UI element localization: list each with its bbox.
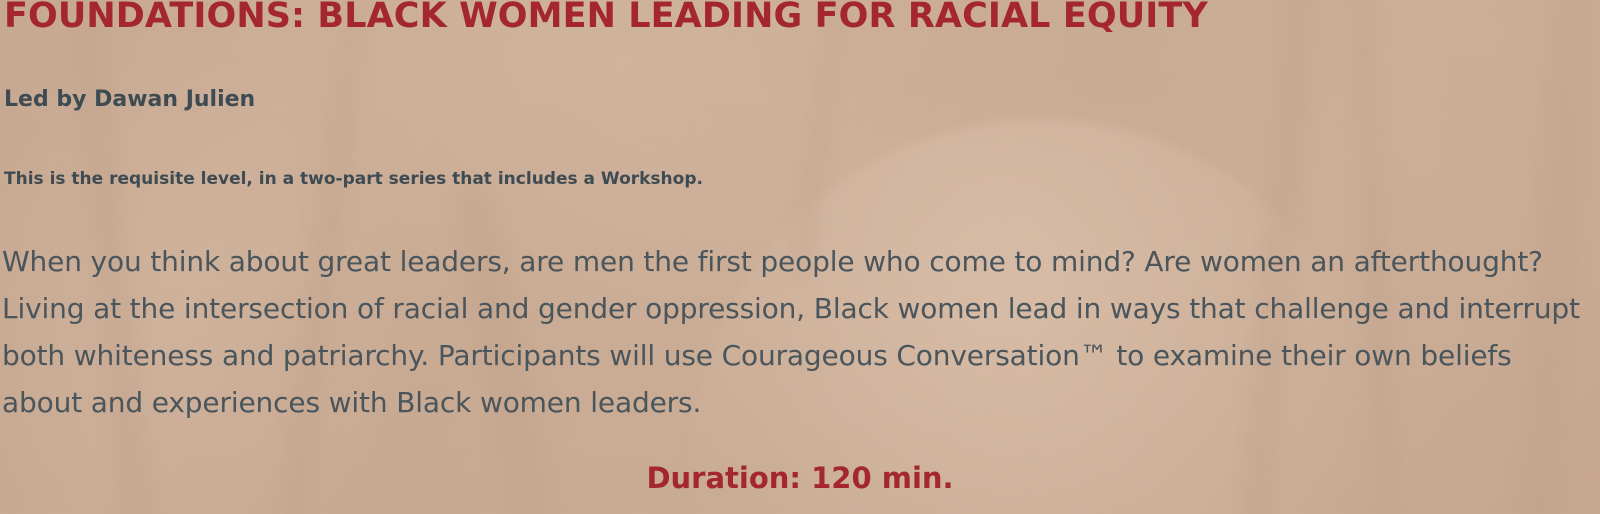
session-duration: Duration: 120 min. — [0, 458, 1600, 498]
session-content: FOUNDATIONS: BLACK WOMEN LEADING FOR RAC… — [0, 0, 1600, 514]
session-description-text: When you think about great leaders, are … — [2, 238, 1598, 426]
session-prerequisite-note: This is the requisite level, in a two-pa… — [4, 167, 703, 191]
session-title: FOUNDATIONS: BLACK WOMEN LEADING FOR RAC… — [4, 0, 1208, 38]
session-facilitator: Led by Dawan Julien — [4, 85, 255, 115]
session-description-panel: FOUNDATIONS: BLACK WOMEN LEADING FOR RAC… — [0, 0, 1600, 514]
